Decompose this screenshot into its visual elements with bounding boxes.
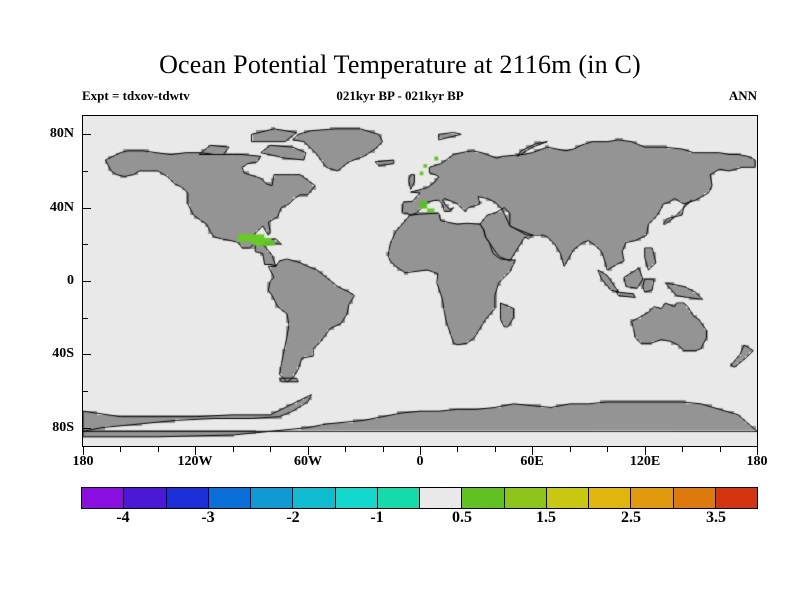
x-tick [233, 446, 234, 452]
x-tick-label: 120E [630, 454, 660, 470]
colorbar-tick-label: 3.5 [706, 509, 726, 527]
colorbar-tick-label: 0.5 [452, 509, 472, 527]
figure-canvas: Ocean Potential Temperature at 2116m (in… [0, 0, 800, 600]
colorbar-segment-14 [674, 488, 716, 508]
x-tick [607, 446, 608, 452]
x-tick [158, 446, 159, 452]
x-tick [570, 446, 571, 452]
x-tick [120, 446, 121, 452]
x-tick-label: 120W [178, 454, 213, 470]
colorbar-tick-label: -1 [370, 509, 383, 527]
colorbar-segment-6 [336, 488, 378, 508]
y-tick-label: 40N [50, 200, 74, 216]
map-plot-area [82, 115, 758, 447]
colorbar-tick-label: -3 [201, 509, 214, 527]
colorbar-segment-10 [505, 488, 547, 508]
colorbar-tick-label: 2.5 [621, 509, 641, 527]
colorbar-segment-12 [589, 488, 631, 508]
colorbar-segment-8 [420, 488, 462, 508]
colorbar-segment-0 [82, 488, 124, 508]
x-tick [270, 446, 271, 452]
y-tick [82, 281, 91, 282]
x-tick-label: 180 [747, 454, 768, 470]
colorbar-segment-9 [462, 488, 504, 508]
x-tick-label: 60W [294, 454, 322, 470]
colorbar-segment-7 [378, 488, 420, 508]
x-tick [345, 446, 346, 452]
season-label: ANN [0, 88, 757, 104]
y-tick [82, 318, 88, 319]
x-tick [495, 446, 496, 452]
colorbar-segment-1 [124, 488, 166, 508]
x-tick [682, 446, 683, 452]
colorbar-segment-3 [209, 488, 251, 508]
y-tick [82, 354, 91, 355]
colorbar-tick-label: 1.5 [536, 509, 556, 527]
x-tick-label: 0 [417, 454, 424, 470]
colorbar-segment-13 [631, 488, 673, 508]
y-tick-label: 0 [67, 273, 74, 289]
y-tick [82, 171, 88, 172]
y-tick [82, 428, 91, 429]
x-tick [383, 446, 384, 452]
y-tick [82, 244, 88, 245]
y-tick-label: 80S [52, 420, 74, 436]
y-tick-label: 40S [52, 346, 74, 362]
colorbar-tick-label: -2 [286, 509, 299, 527]
colorbar-segment-11 [547, 488, 589, 508]
x-tick [720, 446, 721, 452]
y-tick [82, 208, 91, 209]
colorbar-tick-label: -4 [116, 509, 129, 527]
y-tick-label: 80N [50, 126, 74, 142]
colorbar-segment-4 [251, 488, 293, 508]
map-raster [83, 116, 757, 446]
x-tick-label: 60E [520, 454, 543, 470]
colorbar-segment-15 [716, 488, 757, 508]
x-tick [457, 446, 458, 452]
colorbar-segment-5 [293, 488, 335, 508]
y-axis-labels: 80N40N040S80S [0, 0, 74, 600]
colorbar-segment-2 [167, 488, 209, 508]
page-title: Ocean Potential Temperature at 2116m (in… [0, 50, 800, 80]
y-tick [82, 134, 91, 135]
colorbar [81, 487, 758, 509]
y-tick [82, 391, 88, 392]
x-tick-label: 180 [73, 454, 94, 470]
